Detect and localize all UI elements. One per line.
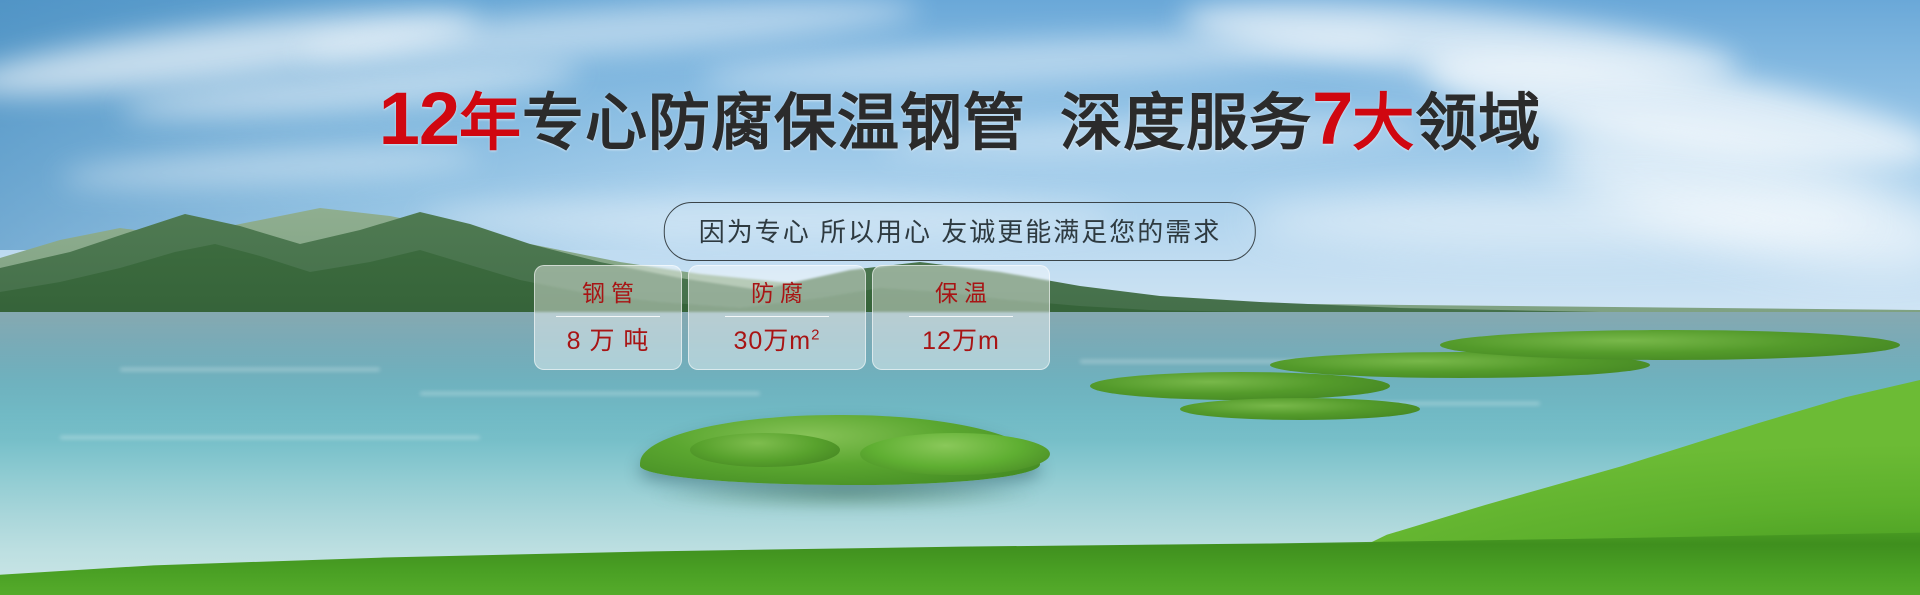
stat-value-superscript: 2 bbox=[811, 327, 820, 344]
headline-fields-unit: 大 bbox=[1352, 89, 1415, 158]
stat-divider bbox=[556, 316, 660, 317]
headline-years-number: 12 bbox=[379, 77, 459, 160]
stat-divider bbox=[909, 316, 1013, 317]
stat-card-insulation[interactable]: 保温 12万m bbox=[872, 265, 1050, 370]
banner-content: 12年专心防腐保温钢管深度服务7大领域 因为专心 所以用心 友诚更能满足您的需求… bbox=[0, 0, 1920, 595]
stat-label: 钢管 bbox=[576, 282, 640, 316]
headline-service-text: 深度服务 bbox=[1060, 89, 1312, 158]
stat-card-anticorrosion[interactable]: 防腐 30万m2 bbox=[688, 265, 866, 370]
stat-value: 8 万 吨 bbox=[567, 329, 650, 354]
stat-value: 30万m2 bbox=[734, 329, 821, 354]
stat-label: 保温 bbox=[929, 282, 993, 316]
subtitle-pill: 因为专心 所以用心 友诚更能满足您的需求 bbox=[664, 202, 1256, 261]
stat-card-steel-pipe[interactable]: 钢管 8 万 吨 bbox=[534, 265, 682, 370]
stat-divider bbox=[725, 316, 829, 317]
headline-main-text: 专心防腐保温钢管 bbox=[522, 89, 1026, 158]
promo-banner: 12年专心防腐保温钢管深度服务7大领域 因为专心 所以用心 友诚更能满足您的需求… bbox=[0, 0, 1920, 595]
stat-value: 12万m bbox=[922, 329, 1000, 354]
stat-value-text: 30万m bbox=[734, 327, 812, 355]
headline-years-unit: 年 bbox=[459, 89, 522, 158]
headline: 12年专心防腐保温钢管深度服务7大领域 bbox=[0, 82, 1920, 156]
stat-label: 防腐 bbox=[745, 282, 809, 316]
headline-fields-text: 领域 bbox=[1415, 89, 1541, 158]
stats-card-group: 钢管 8 万 吨 防腐 30万m2 保温 12万m bbox=[534, 265, 1050, 370]
headline-fields-number: 7 bbox=[1312, 77, 1352, 160]
